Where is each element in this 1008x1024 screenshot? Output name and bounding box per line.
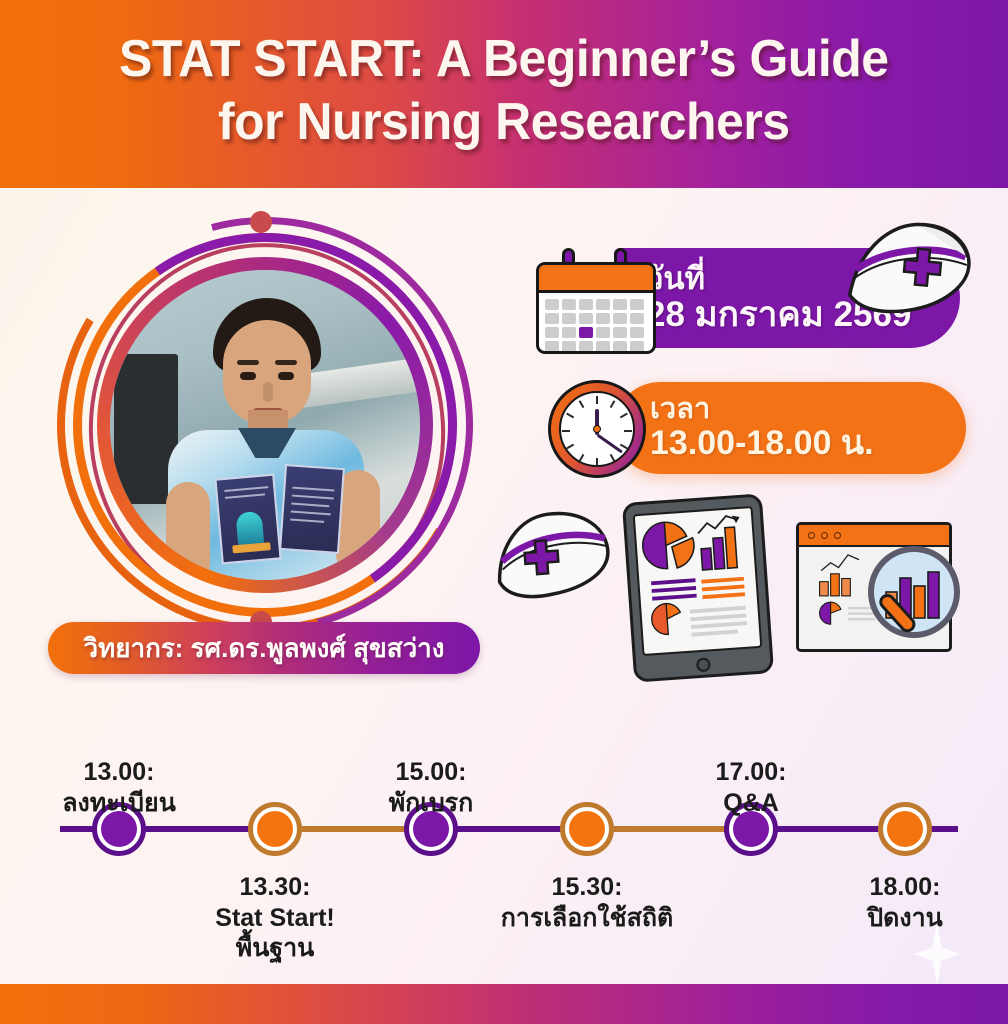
photo-brow-right	[275, 360, 297, 365]
browser-magnifier-icon	[796, 522, 952, 652]
timeline-time: 15.30:	[475, 872, 699, 903]
clock-minute-hand	[596, 434, 622, 454]
timeline-label: 17.00: Q&A	[651, 757, 851, 818]
timeline-label: 13.30: Stat Start! พื้นฐาน	[175, 872, 375, 964]
avatar	[110, 270, 420, 580]
timeline-title: ปิดงาน	[805, 903, 1005, 934]
poster-header: STAT START: A Beginner’s Guide for Nursi…	[0, 0, 1008, 188]
photo-book-right	[279, 464, 345, 554]
photo-face	[223, 320, 311, 424]
timeline-node[interactable]	[560, 802, 614, 856]
timeline-title: ลงทะเบียน	[19, 788, 219, 819]
agenda-timeline: 13.00: ลงทะเบียน 13.30: Stat Start! พื้น…	[0, 700, 1008, 990]
timeline-label: 18.00: ปิดงาน	[805, 872, 1005, 933]
timeline-time: 13.00:	[19, 757, 219, 788]
time-label: เวลา	[650, 394, 966, 424]
photo-book-left	[214, 474, 281, 565]
timeline-title: Stat Start!	[175, 903, 375, 934]
calendar-header-band	[539, 265, 653, 293]
timeline-title: การเลือกใช้สถิติ	[475, 903, 699, 934]
timeline-label: 15.00: พักเบรก	[331, 757, 531, 818]
page-title: STAT START: A Beginner’s Guide for Nursi…	[119, 28, 889, 155]
timeline-segment	[60, 826, 256, 832]
timeline-time: 13.30:	[175, 872, 375, 903]
decorative-dot-top	[250, 211, 272, 233]
nurse-cap-icon	[838, 212, 979, 331]
photo-nose	[263, 382, 273, 402]
timeline-time: 15.00:	[331, 757, 531, 788]
title-line-2: for Nursing Researchers	[218, 93, 790, 151]
tablet-screen	[633, 506, 763, 656]
speaker-name-banner: วิทยากร: รศ.ดร.พูลพงศ์ สุขสว่าง	[48, 622, 480, 674]
speaker-portrait	[55, 215, 475, 635]
photo-arm-left	[166, 482, 210, 580]
timeline-node[interactable]	[878, 802, 932, 856]
poster-canvas: STAT START: A Beginner’s Guide for Nursi…	[0, 0, 1008, 1024]
tablet-charts-icon	[622, 493, 774, 682]
timeline-title: Q&A	[651, 788, 851, 819]
title-line-1: STAT START: A Beginner’s Guide	[119, 30, 889, 88]
speaker-name-label: วิทยากร: รศ.ดร.พูลพงศ์ สุขสว่าง	[84, 628, 445, 669]
clock-center-pin	[593, 425, 601, 433]
time-value: 13.00-18.00 น.	[650, 424, 966, 462]
calendar-icon	[536, 248, 656, 354]
clock-face	[559, 391, 635, 467]
time-badge: เวลา 13.00-18.00 น.	[614, 382, 966, 474]
photo-eye-left	[240, 372, 256, 380]
calendar-body	[536, 262, 656, 354]
clock-icon	[548, 380, 646, 478]
timeline-time: 17.00:	[651, 757, 851, 788]
timeline-time: 18.00:	[805, 872, 1005, 903]
browser-titlebar	[799, 525, 949, 547]
timeline-title-2: พื้นฐาน	[175, 933, 375, 964]
timeline-node[interactable]	[248, 802, 302, 856]
timeline-title: พักเบรก	[331, 788, 531, 819]
nurse-cap-icon	[489, 504, 618, 610]
timeline-label: 13.00: ลงทะเบียน	[19, 757, 219, 818]
calendar-day-grid	[545, 299, 653, 352]
photo-eye-right	[278, 372, 294, 380]
footer-bar	[0, 984, 1008, 1024]
photo-brow-left	[237, 360, 259, 365]
timeline-label: 15.30: การเลือกใช้สถิติ	[475, 872, 699, 933]
timeline-track	[60, 826, 958, 832]
